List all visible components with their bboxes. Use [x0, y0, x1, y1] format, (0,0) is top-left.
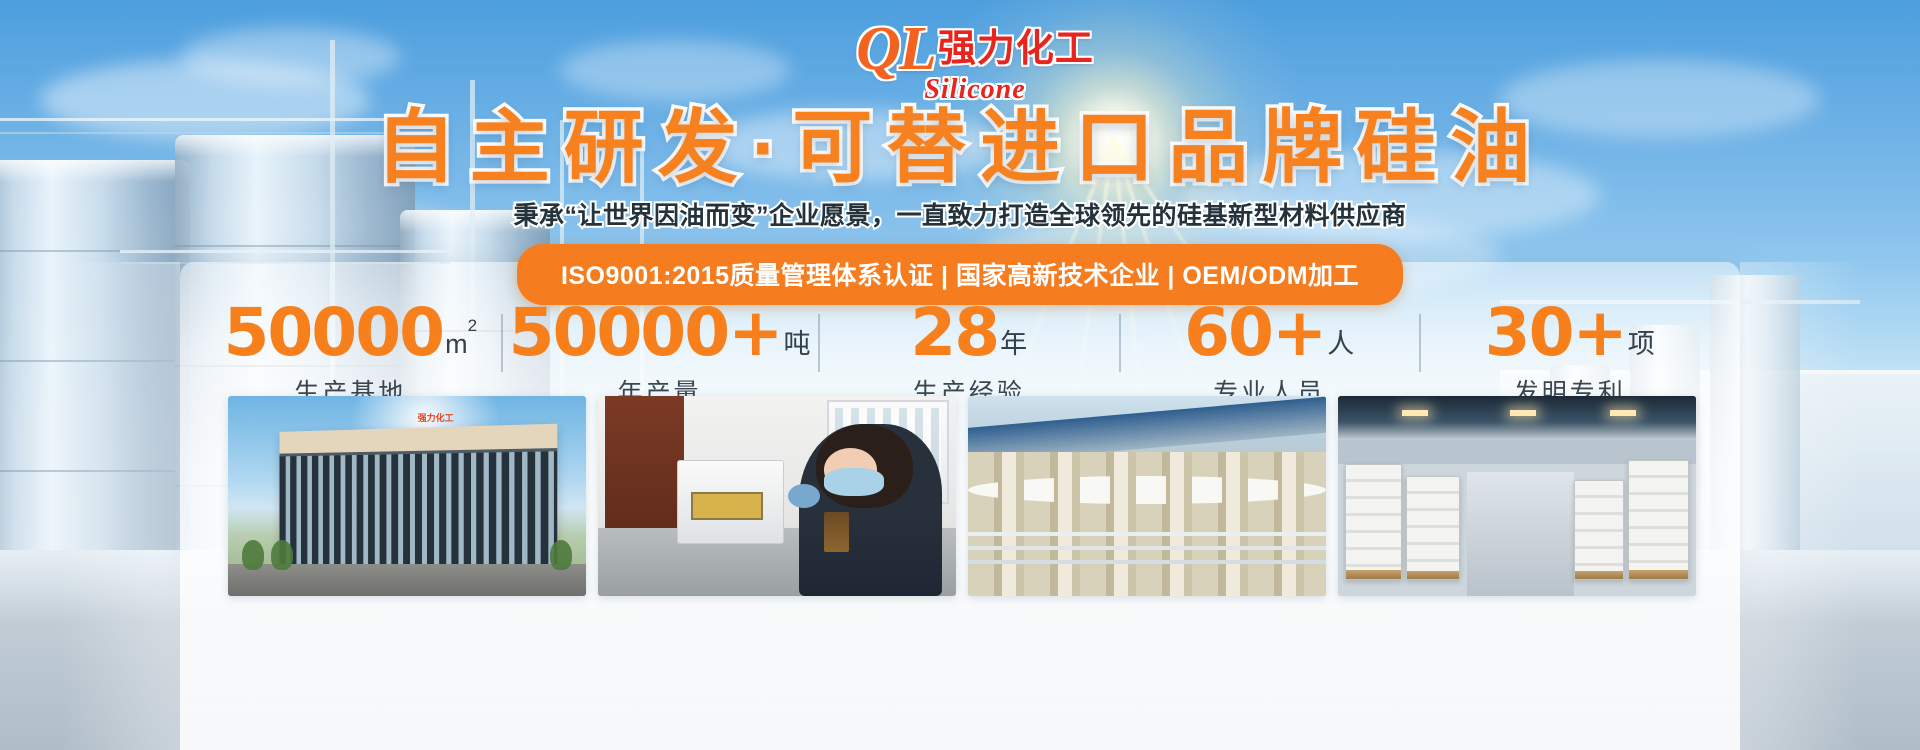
stat-unit: 吨 — [783, 329, 810, 358]
tree-shape — [271, 540, 293, 570]
instrument-screen-shape — [691, 492, 763, 520]
laboratory-photo[interactable] — [598, 396, 956, 596]
stat-item-patents: 30+ 项 发明专利 — [1419, 300, 1720, 409]
reactor-caps-shape — [968, 476, 1326, 504]
stat-item-experience: 28 年 生产经验 — [818, 300, 1119, 409]
ceiling-lamp-shape — [1402, 410, 1428, 416]
stat-number: 30+ — [1485, 300, 1626, 366]
stat-unit: m2 — [445, 329, 477, 358]
logo-primary-row: QL 强力化工 — [855, 18, 1095, 80]
face-mask-shape — [824, 468, 885, 496]
headline: 自主研发·可替进口品牌硅油 — [0, 108, 1920, 188]
stat-value-row: 50000+ 吨 — [509, 300, 811, 366]
subtitle: 秉承“让世界因油而变”企业愿景，一直致力打造全球领先的硅基新型材料供应商 — [0, 196, 1920, 232]
logo-company-name: 强力化工 — [938, 30, 1094, 68]
office-building-shape — [279, 424, 557, 577]
stat-number: 50000+ — [509, 300, 782, 366]
cloud-shape — [560, 40, 790, 100]
tree-shape — [242, 540, 264, 570]
reactor-tanks-photo[interactable] — [968, 396, 1326, 596]
tree-shape — [550, 540, 572, 570]
ibc-tote-stack — [1574, 480, 1624, 580]
building-logo-sign: 强力化工 — [364, 408, 507, 426]
stat-item-staff: 60+ 人 专业人员 — [1119, 300, 1420, 409]
warehouse-ceiling-shape — [1338, 396, 1696, 440]
hero-banner: QL 强力化工 Silicone 自主研发·可替进口品牌硅油 秉承“让世界因油而… — [0, 0, 1920, 750]
stat-number: 50000 — [223, 300, 443, 366]
ibc-tote-stack — [1628, 460, 1689, 580]
door-shape — [605, 396, 684, 548]
stat-value-row: 50000 m2 — [208, 300, 493, 366]
stat-unit: 项 — [1628, 329, 1655, 358]
cloud-shape — [180, 28, 400, 86]
stat-item-production-base: 50000 m2 生产基地 — [200, 300, 501, 409]
glove-shape — [788, 484, 820, 508]
logo-mark-text: QL — [856, 18, 935, 80]
company-logo[interactable]: QL 强力化工 Silicone — [855, 18, 1095, 110]
stat-unit: 人 — [1327, 329, 1354, 358]
office-building-photo[interactable]: 强力化工 — [228, 396, 586, 596]
reagent-bottle-shape — [824, 512, 849, 552]
ceiling-lamp-shape — [1510, 410, 1536, 416]
stat-number: 60+ — [1184, 300, 1325, 366]
pipeline-shape — [968, 532, 1326, 536]
stat-value-row: 28 年 — [826, 300, 1111, 366]
ibc-tote-stack — [1406, 476, 1460, 580]
warehouse-aisle-shape — [1467, 472, 1574, 596]
ibc-tote-stack — [1345, 464, 1402, 580]
photo-strip: 强力化工 — [228, 396, 1696, 596]
stat-number: 28 — [910, 300, 998, 366]
stat-unit: 年 — [1000, 329, 1027, 358]
reactor-silos-shape — [968, 452, 1326, 596]
ceiling-lamp-shape — [1610, 410, 1636, 416]
stat-item-annual-output: 50000+ 吨 年产量 — [501, 300, 819, 409]
warehouse-photo[interactable] — [1338, 396, 1696, 596]
stat-value-row: 60+ 人 — [1127, 300, 1412, 366]
stat-value-row: 30+ 项 — [1427, 300, 1712, 366]
stats-row: 50000 m2 生产基地 50000+ 吨 年产量 28 年 生产经验 60+… — [200, 300, 1720, 400]
